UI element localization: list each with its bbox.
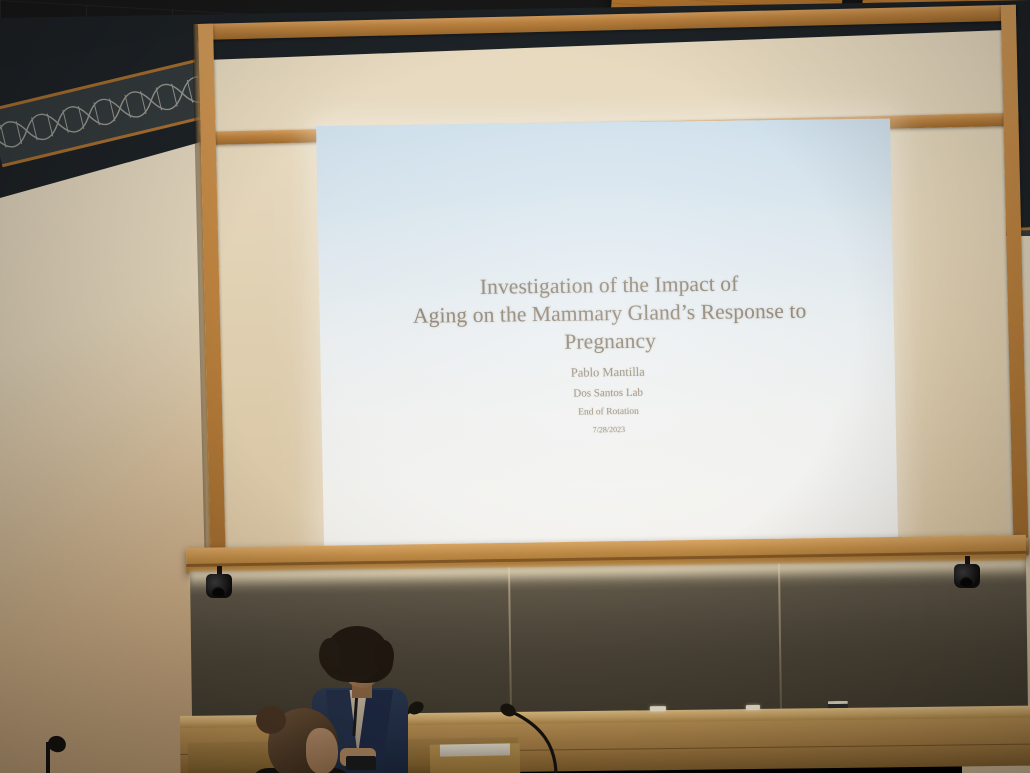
slide-title: Investigation of the Impact of Aging on …: [341, 269, 879, 360]
spotlight-lens: [211, 586, 226, 597]
slide-occasion: End of Rotation: [321, 403, 895, 421]
audience-necklace: [284, 764, 324, 773]
mic-gooseneck-stem: [512, 712, 556, 773]
chalk-stick: [650, 706, 666, 711]
projected-slide: Investigation of the Impact of Aging on …: [316, 118, 898, 549]
spotlight-fixture-left: [204, 566, 234, 600]
podium-microphone-right: [498, 704, 560, 773]
spotlight-fixture-right: [952, 556, 982, 590]
chalkboard-eraser: [828, 701, 848, 708]
spotlight-lens: [959, 576, 974, 587]
slide-lab-name: Dos Santos Lab: [321, 383, 895, 403]
audience-member-foreground: [244, 702, 352, 773]
left-wall: [0, 140, 208, 773]
floor-microphone: [36, 730, 66, 773]
chalk-stick: [746, 705, 760, 710]
presenter-hair: [326, 626, 388, 678]
slide-presenter-name: Pablo Mantilla: [321, 361, 895, 384]
slide-date: 7/28/2023: [322, 421, 896, 438]
audience-hair-bun: [256, 706, 286, 734]
mic-capsule: [498, 701, 518, 719]
lecture-hall-photo: Investigation of the Impact of Aging on …: [0, 0, 1030, 773]
